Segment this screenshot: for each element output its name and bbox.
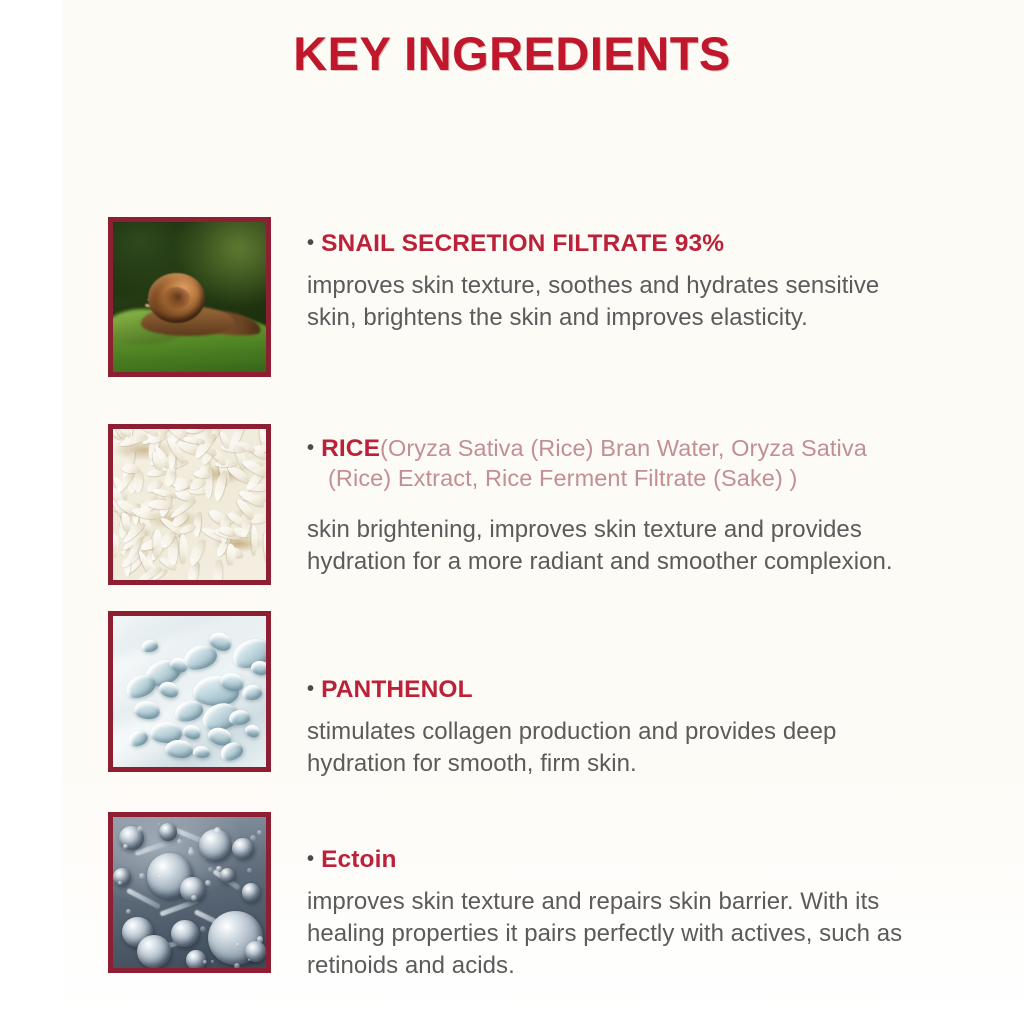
ingredient-image-snail [108, 217, 271, 377]
page-title: KEY INGREDIENTS [0, 26, 1024, 81]
bullet-icon: • [307, 437, 314, 459]
ingredient-image-ectoin [108, 812, 271, 973]
ingredient-description: improves skin texture, soothes and hydra… [307, 270, 922, 334]
ingredient-heading-snail: •SNAIL SECRETION FILTRATE 93% [307, 229, 922, 259]
molecule-microdot [200, 926, 206, 932]
ingredient-image-panthenol [108, 611, 271, 772]
rice-grain [247, 484, 266, 491]
bullet-icon: • [307, 232, 314, 254]
molecule-microdot [191, 895, 197, 901]
molecule-microdot [126, 909, 131, 914]
bullet-icon: • [307, 848, 314, 870]
ingredient-heading-panthenol: •PANTHENOL [307, 675, 922, 705]
ingredient-description: improves skin texture and repairs skin b… [307, 886, 922, 982]
ingredient-name: SNAIL SECRETION FILTRATE 93% [321, 230, 724, 257]
key-ingredients-poster: KEY INGREDIENTS [0, 0, 1024, 1024]
molecule-sphere [171, 920, 199, 947]
water-droplets-photo [113, 616, 266, 767]
molecule-microdot [247, 868, 252, 873]
ingredient-image-rice [108, 424, 271, 585]
molecule-spheres-photo [113, 817, 266, 968]
ingredient-entry-ectoin: •Ectoin improves skin texture and repair… [307, 845, 922, 982]
ingredient-heading-rice: •RICE(Oryza Sativa (Rice) Bran Water, Or… [307, 434, 922, 494]
ingredient-entry-rice: •RICE(Oryza Sativa (Rice) Bran Water, Or… [307, 434, 922, 578]
ingredient-name: PANTHENOL [321, 676, 473, 703]
ingredient-description: skin brightening, improves skin texture … [307, 514, 922, 578]
ingredient-entry-snail: •SNAIL SECRETION FILTRATE 93% improves s… [307, 229, 922, 334]
molecule-sphere [242, 883, 260, 901]
bullet-icon: • [307, 678, 314, 700]
ingredient-name: Ectoin [321, 846, 396, 873]
white-rice-grains-photo [113, 429, 266, 580]
molecule-microdot [139, 873, 144, 878]
ingredient-inci-list: (Oryza Sativa (Rice) Bran Water, Oryza S… [328, 435, 867, 491]
snail-shell-shape [148, 273, 205, 323]
molecule-microdot [250, 835, 256, 841]
snail-on-leaf-photo [113, 222, 266, 372]
ingredient-heading-ectoin: •Ectoin [307, 845, 922, 875]
molecule-sphere [232, 838, 253, 859]
molecule-sphere [137, 935, 171, 968]
molecule-sphere [186, 950, 206, 968]
ingredient-description: stimulates collagen production and provi… [307, 716, 922, 780]
ingredient-name: RICE [321, 435, 380, 462]
ingredient-entry-panthenol: •PANTHENOL stimulates collagen productio… [307, 675, 922, 780]
molecule-microdot [123, 844, 128, 849]
molecule-microdot [234, 963, 240, 968]
molecule-microdot [208, 867, 213, 872]
molecule-microdot [236, 943, 239, 946]
molecule-microdot [137, 826, 143, 832]
molecule-microdot [216, 866, 221, 871]
molecule-microdot [257, 936, 264, 943]
